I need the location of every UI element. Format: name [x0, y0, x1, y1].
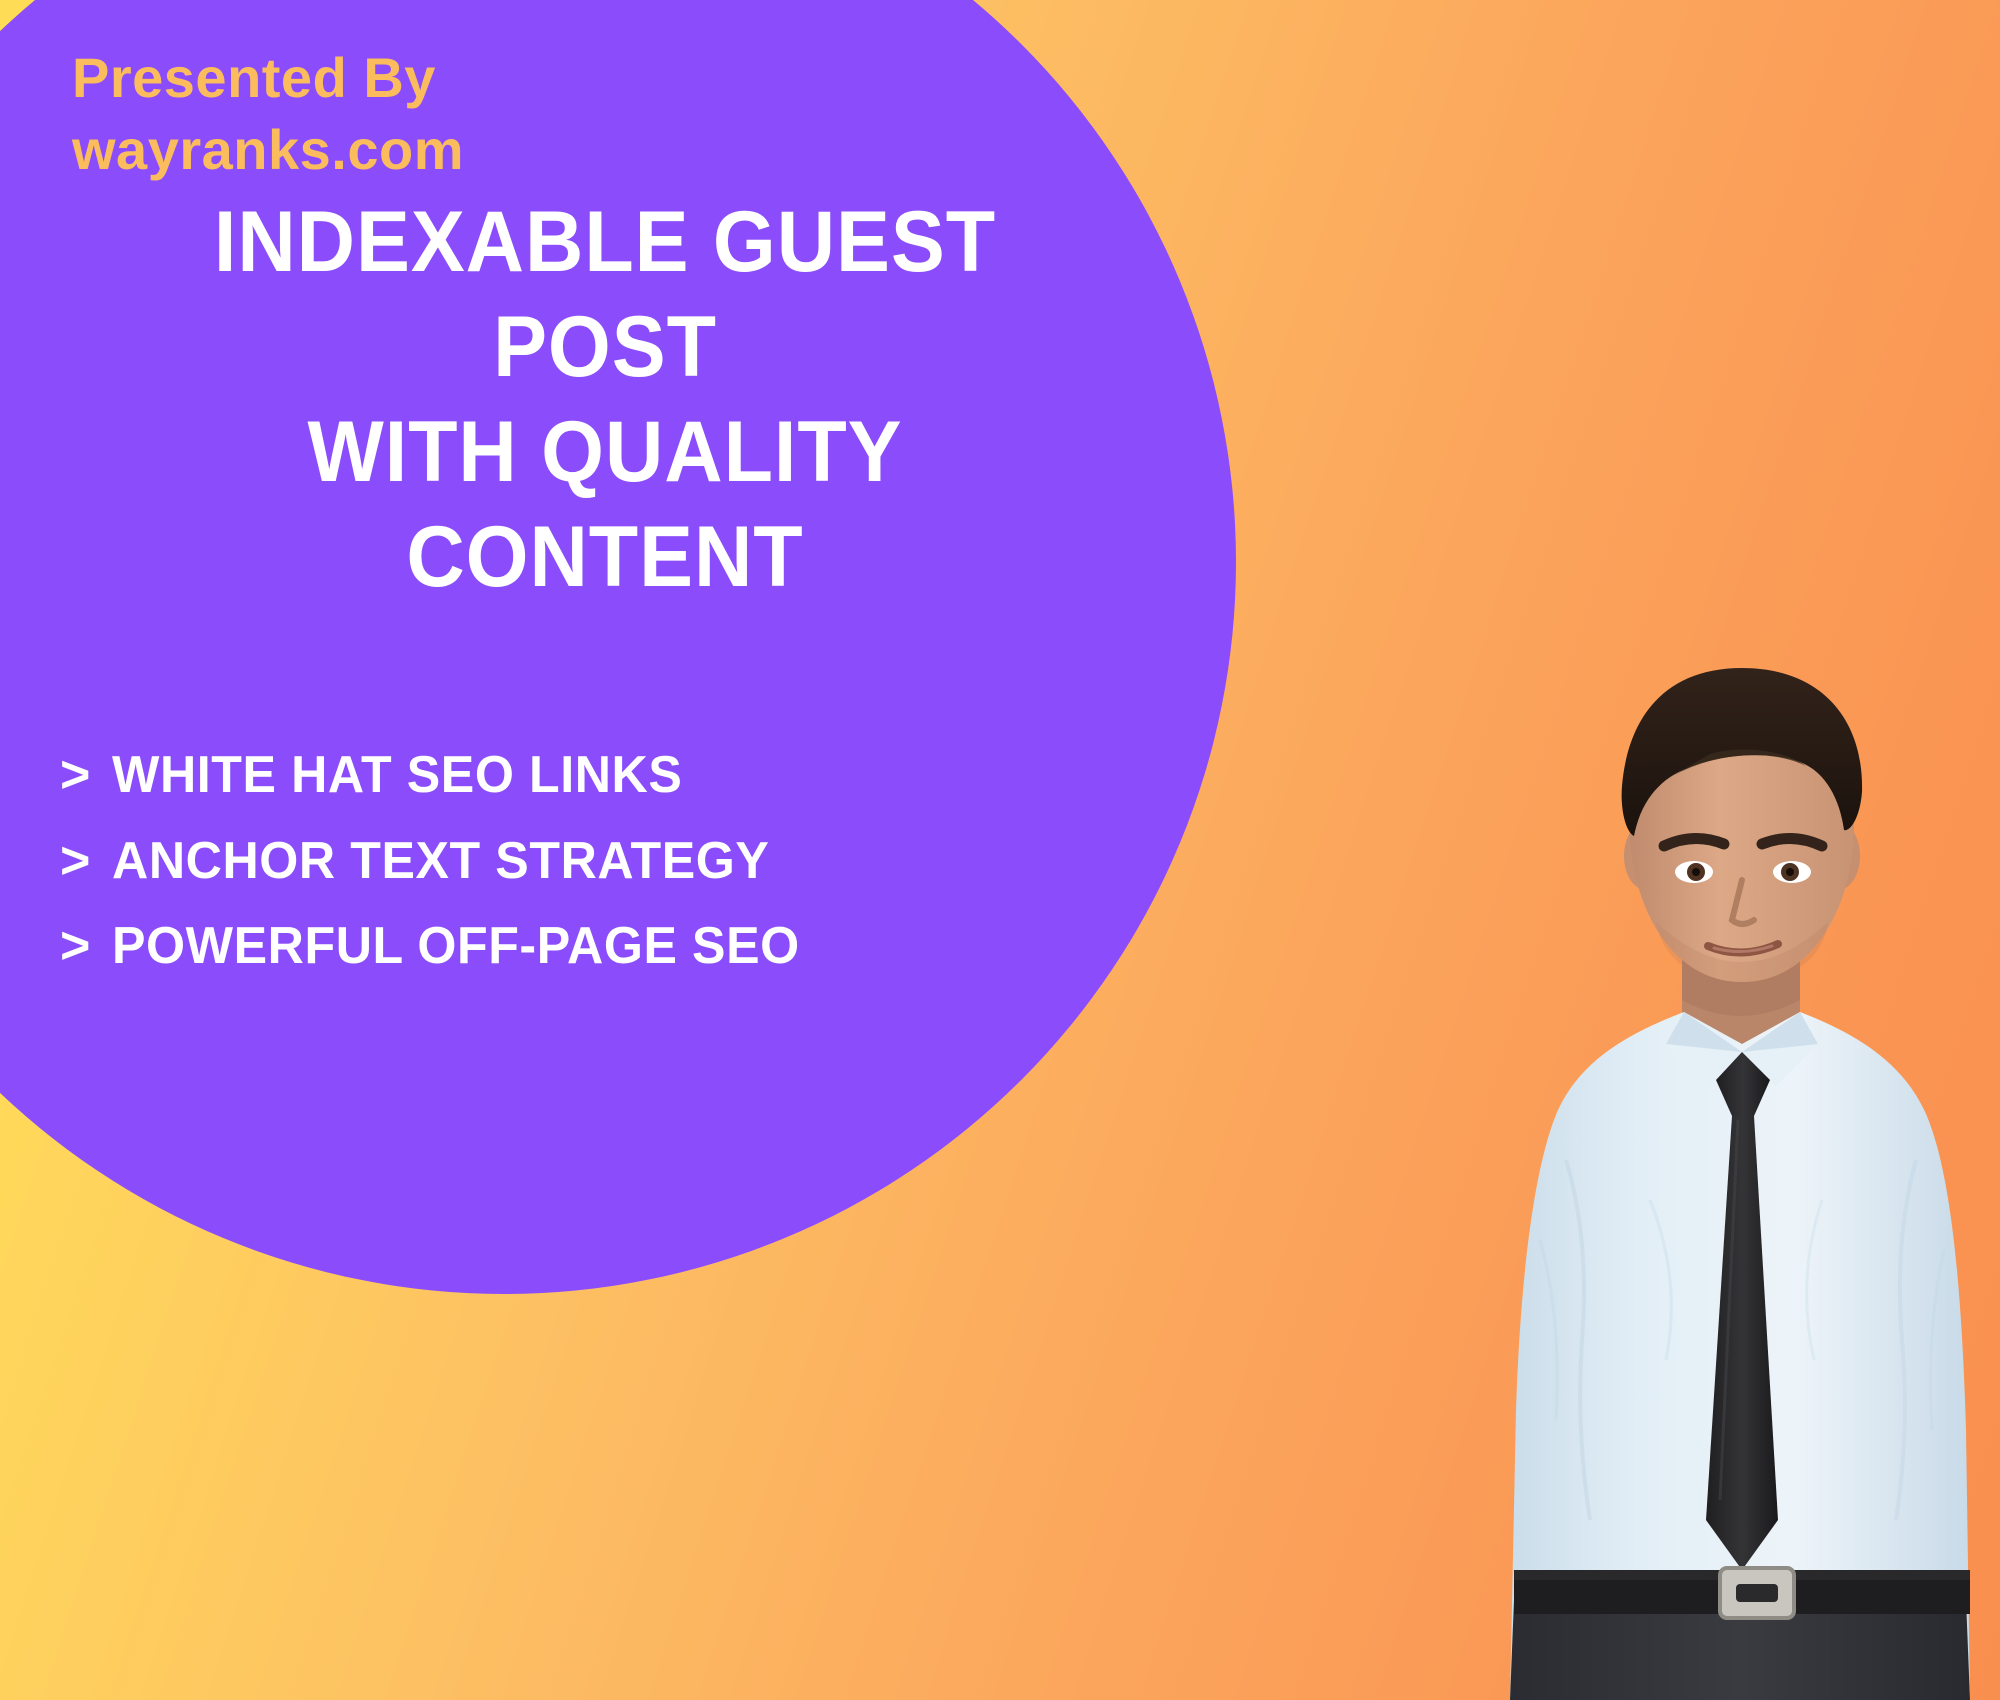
chevron-right-icon: > [60, 835, 90, 887]
feature-item-1-label: WHITE HAT SEO LINKS [112, 748, 682, 803]
headline-line-4: CONTENT [93, 505, 1118, 610]
feature-item-3: > POWERFUL OFF-PAGE SEO [60, 919, 1150, 974]
feature-item-3-label: POWERFUL OFF-PAGE SEO [112, 919, 800, 974]
chevron-right-icon: > [60, 749, 90, 801]
branding-block: Presented By wayranks.com [72, 42, 972, 185]
headline-block: INDEXABLE GUEST POST WITH QUALITY CONTEN… [60, 190, 1150, 610]
site-name: wayranks.com [72, 114, 972, 186]
feature-item-2: > ANCHOR TEXT STRATEGY [60, 834, 1150, 889]
feature-list: > WHITE HAT SEO LINKS > ANCHOR TEXT STRA… [60, 748, 1150, 1005]
chevron-right-icon: > [60, 920, 90, 972]
presented-by-label: Presented By [72, 42, 972, 114]
feature-item-1: > WHITE HAT SEO LINKS [60, 748, 1150, 803]
headline-line-2: POST [93, 295, 1118, 400]
feature-item-2-label: ANCHOR TEXT STRATEGY [112, 834, 769, 889]
headline-line-1: INDEXABLE GUEST [93, 190, 1118, 295]
promotional-poster: Presented By wayranks.com INDEXABLE GUES… [0, 0, 2000, 1700]
headline-line-3: WITH QUALITY [93, 400, 1118, 505]
